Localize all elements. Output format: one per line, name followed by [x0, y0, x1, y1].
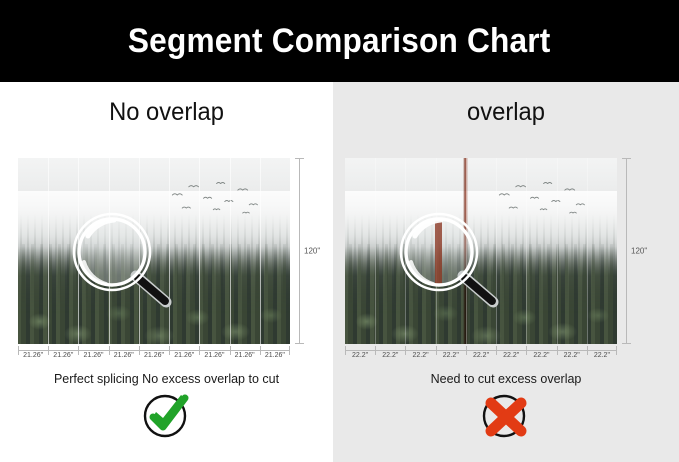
caption-overlap: Need to cut excess overlap	[333, 372, 679, 386]
segment-label: 21.26"	[174, 352, 194, 359]
comparison-panels: No overlap	[0, 82, 679, 462]
segment-label: 21.26"	[235, 352, 255, 359]
segment-label: 21.26"	[84, 352, 104, 359]
segment-label: 22.2"	[533, 352, 549, 359]
birds-flock-icon	[481, 177, 606, 218]
excess-overlap-band	[463, 158, 468, 344]
segment-label: 21.26"	[114, 352, 134, 359]
segment-label: 22.2"	[443, 352, 459, 359]
panel-no-overlap: No overlap	[0, 82, 333, 462]
canopy-highlight-layer	[18, 242, 290, 344]
height-dimension-no-overlap: 120"	[294, 158, 328, 344]
segment-label: 21.26"	[204, 352, 224, 359]
mural-photo-overlap	[345, 158, 617, 344]
segment-label: 22.2"	[412, 352, 428, 359]
height-dimension-overlap: 120"	[621, 158, 655, 344]
verdict-no-overlap	[0, 392, 333, 440]
page-title: Segment Comparison Chart	[128, 22, 551, 61]
canopy-highlight-layer	[345, 242, 617, 344]
figure-overlap: 120" 22.2" 22.2" 22.2" 22.2" 22.2" 22.	[345, 158, 617, 364]
birds-flock-icon	[154, 177, 279, 218]
mural-photo-no-overlap	[18, 158, 290, 344]
segment-dimensions-no-overlap: 21.26" 21.26" 21.26" 21.26" 21.26" 21.26…	[18, 346, 290, 364]
segment-label: 21.26"	[265, 352, 285, 359]
segment-label: 22.2"	[352, 352, 368, 359]
segment-label: 22.2"	[594, 352, 610, 359]
segment-label: 22.2"	[503, 352, 519, 359]
panel-heading-no-overlap: No overlap	[8, 98, 324, 127]
caption-no-overlap: Perfect splicing No excess overlap to cu…	[0, 372, 333, 386]
segment-dimensions-overlap: 22.2" 22.2" 22.2" 22.2" 22.2" 22.2" 22.2…	[345, 346, 617, 364]
panel-heading-overlap: overlap	[342, 98, 671, 127]
segment-label: 22.2"	[382, 352, 398, 359]
segment-label: 21.26"	[53, 352, 73, 359]
height-dimension-label: 120"	[304, 247, 320, 256]
panel-overlap: overlap	[333, 82, 679, 462]
height-dimension-label: 120"	[631, 247, 647, 256]
segment-label: 22.2"	[473, 352, 489, 359]
title-banner: Segment Comparison Chart	[0, 0, 679, 82]
segment-label: 22.2"	[564, 352, 580, 359]
segment-label: 21.26"	[144, 352, 164, 359]
cross-mark-icon	[480, 392, 532, 440]
verdict-overlap	[333, 392, 679, 440]
figure-no-overlap: 120" 21.26" 21.26" 21.26" 21.26" 21.26"	[18, 158, 290, 364]
check-mark-icon	[141, 392, 193, 440]
segment-label: 21.26"	[23, 352, 43, 359]
